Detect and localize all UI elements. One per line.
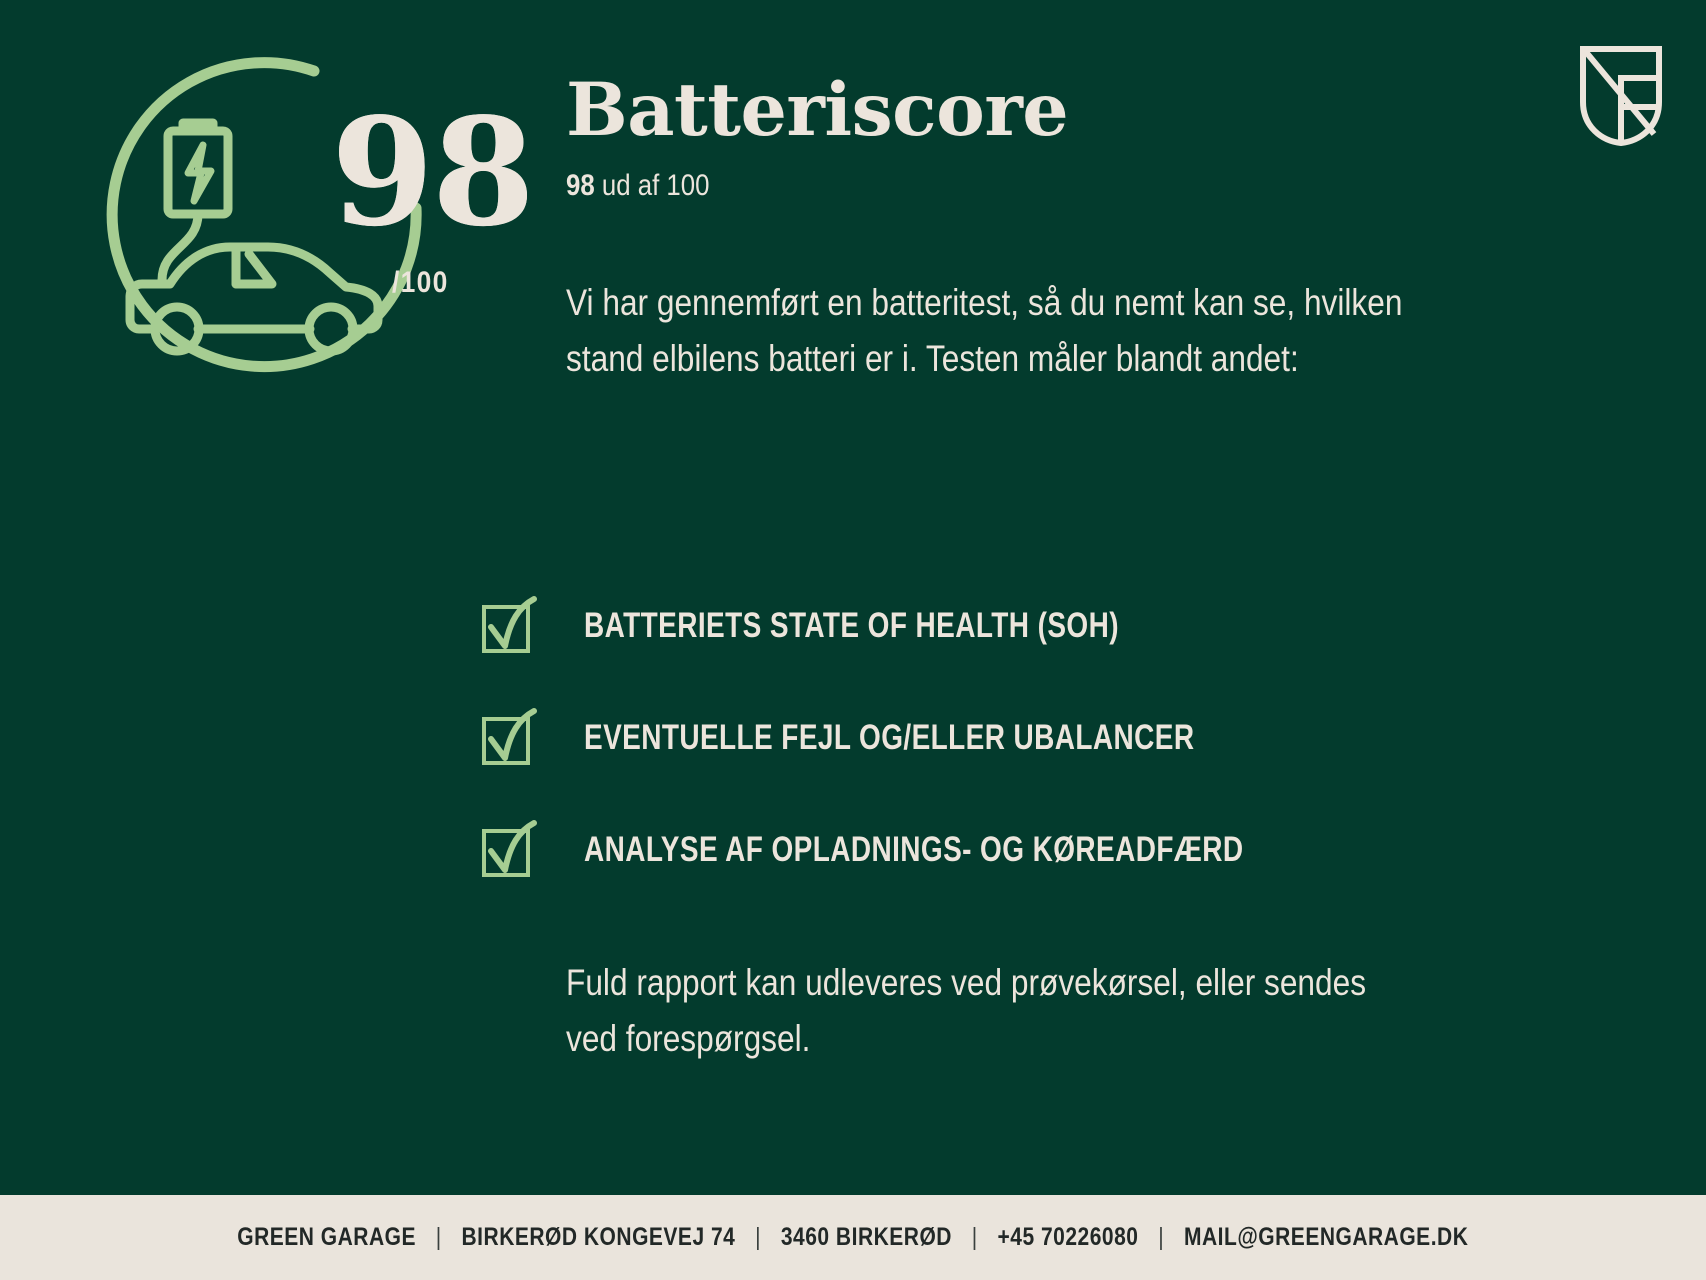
checkmark-icon bbox=[480, 597, 538, 655]
content-column: Batteriscore 98 ud af 100 Vi har gennemf… bbox=[566, 74, 1626, 387]
checklist-item-label: ANALYSE AF OPLADNINGS- OG KØREADFÆRD bbox=[584, 830, 1243, 870]
footer-company: GREEN GARAGE bbox=[237, 1223, 416, 1251]
checklist-item: ANALYSE AF OPLADNINGS- OG KØREADFÆRD bbox=[480, 794, 1630, 906]
page-title: Batteriscore bbox=[566, 74, 1626, 147]
checklist-item-label: BATTERIETS STATE OF HEALTH (SOH) bbox=[584, 606, 1119, 646]
footer-city: 3460 BIRKERØD bbox=[781, 1223, 952, 1251]
score-denominator: /100 bbox=[392, 266, 449, 300]
score-value: 98 bbox=[331, 98, 533, 246]
footer-separator: | bbox=[423, 1223, 456, 1252]
battery-score-badge: 98 /100 bbox=[86, 48, 466, 393]
checklist-item-label: EVENTUELLE FEJL OG/ELLER UBALANCER bbox=[584, 718, 1194, 758]
checklist-item: BATTERIETS STATE OF HEALTH (SOH) bbox=[480, 570, 1630, 682]
checklist-item: EVENTUELLE FEJL OG/ELLER UBALANCER bbox=[480, 682, 1630, 794]
footer-email[interactable]: MAIL@GREENGARAGE.DK bbox=[1184, 1223, 1468, 1251]
subtitle-score-suffix: ud af 100 bbox=[595, 169, 710, 202]
subtitle-score-value: 98 bbox=[566, 169, 595, 202]
footer-separator: | bbox=[958, 1223, 991, 1252]
checklist: BATTERIETS STATE OF HEALTH (SOH) EVENTUE… bbox=[480, 570, 1630, 906]
footer-separator: | bbox=[1145, 1223, 1178, 1252]
outro-paragraph: Fuld rapport kan udleveres ved prøvekørs… bbox=[566, 955, 1421, 1067]
battery-score-card: 98 /100 Batteriscore 98 ud af 100 Vi har… bbox=[0, 0, 1706, 1280]
checkmark-icon bbox=[480, 709, 538, 767]
footer-separator: | bbox=[742, 1223, 775, 1252]
battery-icon bbox=[168, 123, 228, 214]
footer-phone[interactable]: +45 70226080 bbox=[998, 1223, 1139, 1251]
score-subtitle: 98 ud af 100 bbox=[566, 169, 1478, 203]
checkmark-icon bbox=[480, 821, 538, 879]
footer-contact-line: GREEN GARAGE | BIRKERØD KONGEVEJ 74 | 34… bbox=[237, 1223, 1468, 1252]
footer-street: BIRKERØD KONGEVEJ 74 bbox=[462, 1223, 736, 1251]
intro-paragraph: Vi har gennemført en batteritest, så du … bbox=[566, 275, 1404, 387]
footer-bar: GREEN GARAGE | BIRKERØD KONGEVEJ 74 | 34… bbox=[0, 1195, 1706, 1280]
